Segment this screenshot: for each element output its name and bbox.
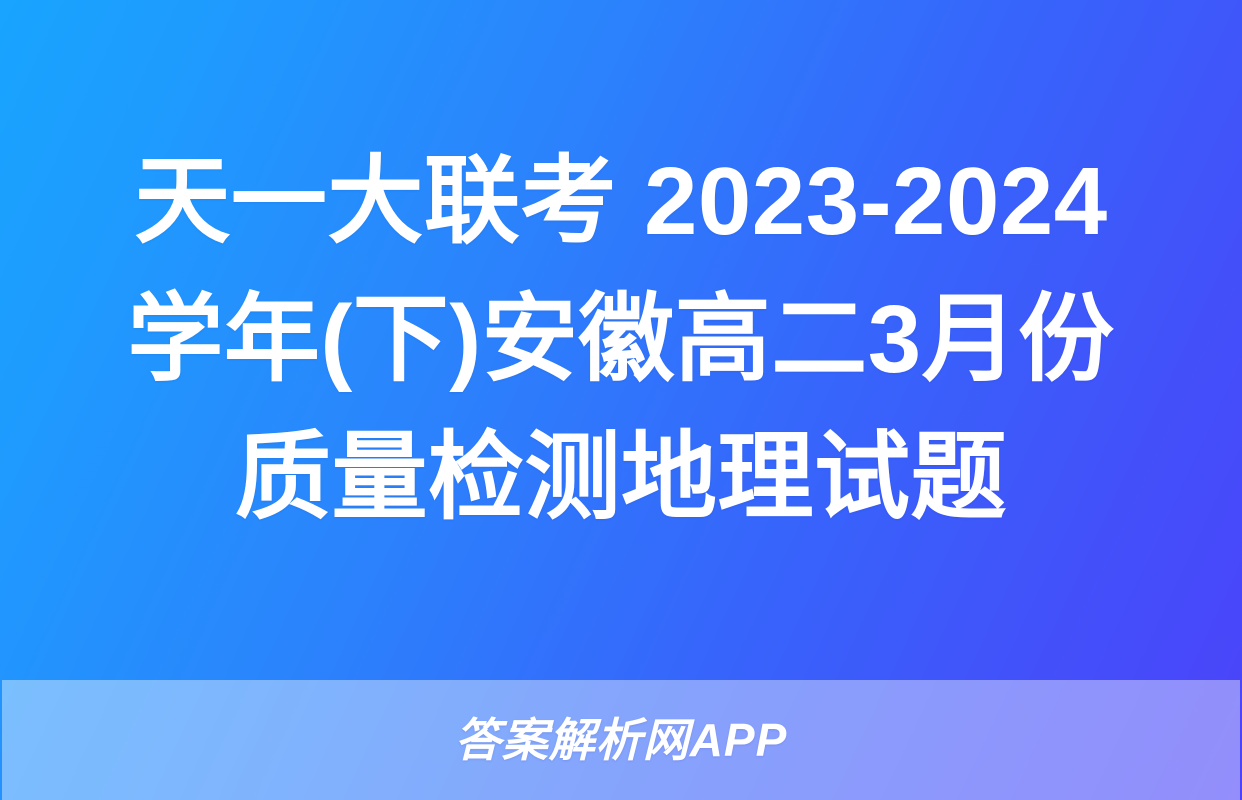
title-line-2: 学年(下)安徽高二3月份 bbox=[127, 271, 1114, 409]
title-line-1: 天一大联考 2023-2024 bbox=[134, 133, 1107, 271]
watermark-band: 答案解析网APP bbox=[2, 680, 1240, 800]
title-line-3: 质量检测地理试题 bbox=[235, 409, 1007, 547]
exam-cover-card: 天一大联考 2023-2024 学年(下)安徽高二3月份 质量检测地理试题 答案… bbox=[0, 0, 1242, 800]
app-watermark-label: 答案解析网APP bbox=[455, 717, 788, 763]
page-title: 天一大联考 2023-2024 学年(下)安徽高二3月份 质量检测地理试题 bbox=[0, 0, 1242, 680]
